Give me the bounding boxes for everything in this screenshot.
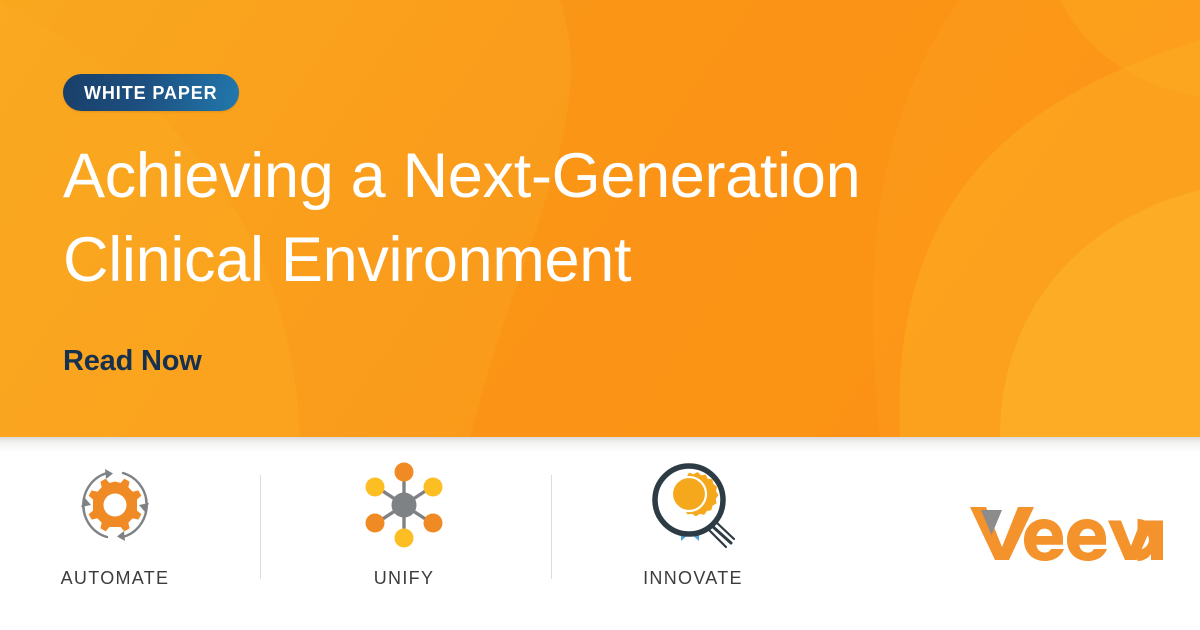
veeva-logo [968,499,1163,561]
gear-cycle-icon [65,455,165,555]
award-magnifier-icon [643,455,743,555]
footer-section: AUTOMATE [0,437,1200,630]
hero-section: WHITE PAPER Achieving a Next-Generation … [0,0,1200,437]
pillar-automate: AUTOMATE [25,455,205,589]
pillar-innovate: INNOVATE [603,455,783,589]
pillar-automate-label: AUTOMATE [61,568,170,589]
white-paper-badge-label: WHITE PAPER [84,84,218,102]
pillar-innovate-label: INNOVATE [643,568,743,589]
hero-content: WHITE PAPER Achieving a Next-Generation … [63,0,1063,437]
read-now-link[interactable]: Read Now [63,344,202,379]
network-hub-icon [354,455,454,555]
pillar-unify-label: UNIFY [374,568,435,589]
page-title: Achieving a Next-Generation Clinical Env… [63,134,1043,302]
pillar-divider-2 [551,475,552,579]
white-paper-badge: WHITE PAPER [63,74,239,111]
pillar-divider-1 [260,475,261,579]
promo-banner: WHITE PAPER Achieving a Next-Generation … [0,0,1200,630]
pillar-unify: UNIFY [314,455,494,589]
pillar-list: AUTOMATE [0,437,800,630]
hero-bottom-shadow [0,437,1200,453]
